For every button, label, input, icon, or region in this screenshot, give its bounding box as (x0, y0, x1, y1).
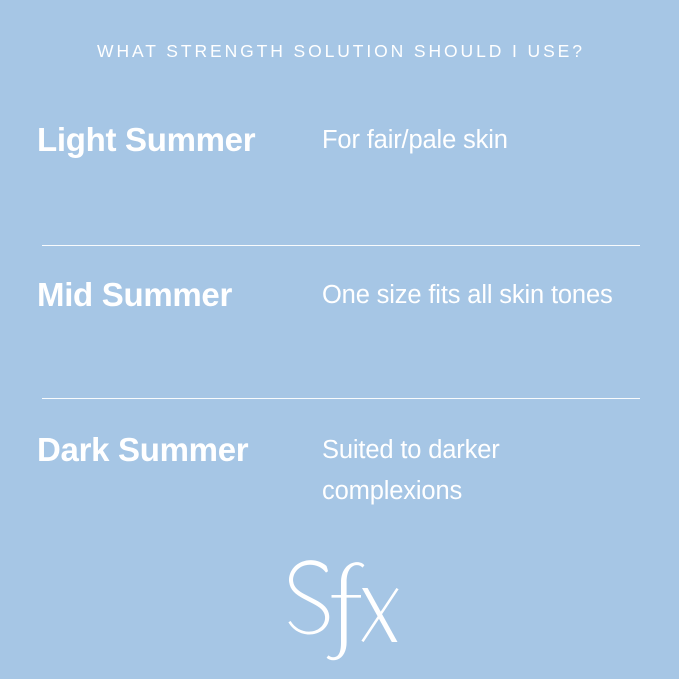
option-description: Suited to darker complexions (322, 430, 622, 512)
sfx-monogram-logo (0, 556, 679, 666)
sfx-logo-icon (279, 558, 401, 664)
row-divider (42, 245, 640, 246)
page-title: WHAT STRENGTH SOLUTION SHOULD I USE? (0, 41, 679, 62)
option-description: One size fits all skin tones (322, 275, 622, 316)
infographic-card: WHAT STRENGTH SOLUTION SHOULD I USE? Lig… (0, 0, 679, 679)
row-divider (42, 398, 640, 399)
option-title: Dark Summer (37, 428, 312, 472)
option-title: Light Summer (37, 118, 312, 162)
option-description: For fair/pale skin (322, 120, 622, 161)
option-title: Mid Summer (37, 273, 312, 317)
